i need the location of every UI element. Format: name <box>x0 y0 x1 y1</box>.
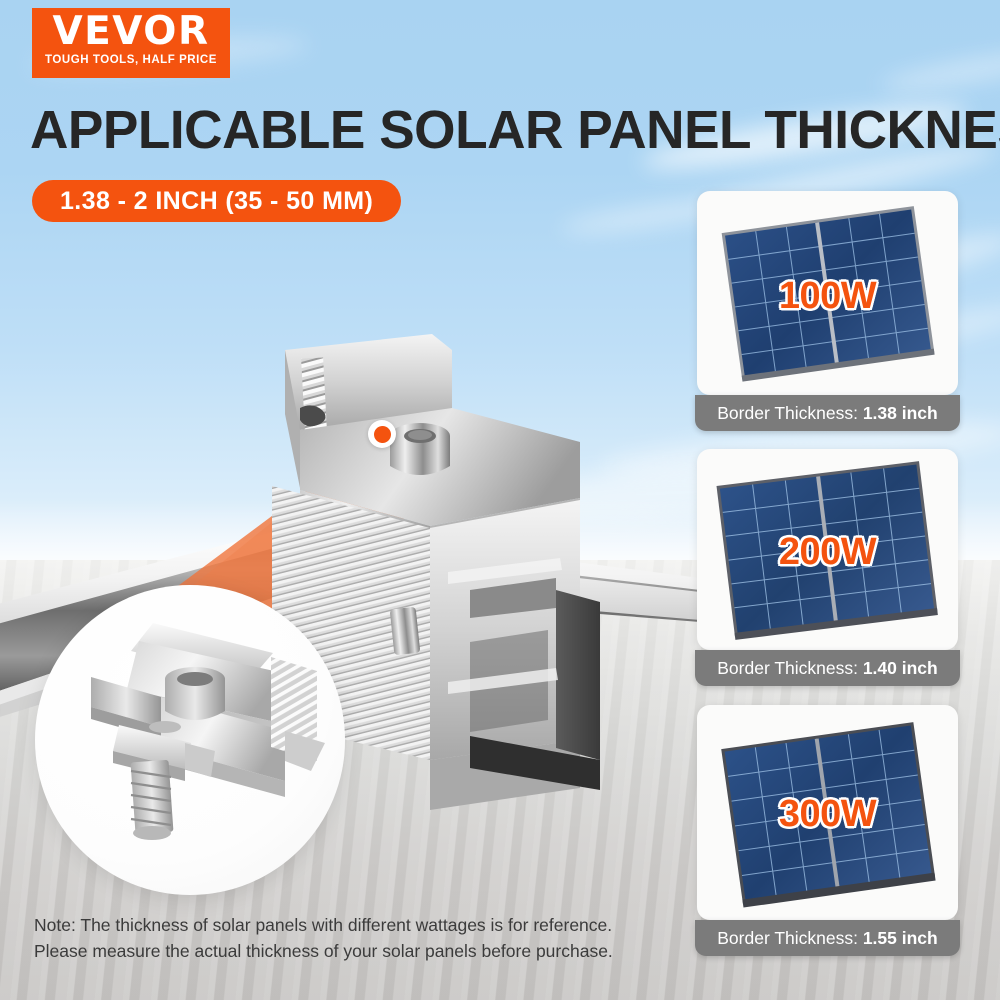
panel-thumbnail: 300W <box>697 705 958 920</box>
spec-card-300w: 300W Border Thickness: 1.55 inch <box>697 705 958 956</box>
poster-canvas: VEVOR TOUGH TOOLS, HALF PRICE APPLICABLE… <box>0 0 1000 1000</box>
border-thickness-footer: Border Thickness: 1.38 inch <box>695 395 960 431</box>
vevor-logo: VEVOR TOUGH TOOLS, HALF PRICE <box>32 8 230 78</box>
callout-dot-core <box>374 426 391 443</box>
wattage-label: 300W <box>697 793 958 836</box>
footer-value: 1.55 inch <box>863 928 938 948</box>
footer-label: Border Thickness: <box>717 403 863 423</box>
disclaimer-note: Note: The thickness of solar panels with… <box>34 912 674 964</box>
magnified-clamp-detail <box>35 585 345 895</box>
bolt-thread <box>131 760 174 840</box>
note-line-2: Please measure the actual thickness of y… <box>34 938 674 964</box>
note-line-1: Note: The thickness of solar panels with… <box>34 912 674 938</box>
page-title: APPLICABLE SOLAR PANEL THICKNESS <box>30 100 917 160</box>
wattage-label: 200W <box>697 531 958 574</box>
border-thickness-footer: Border Thickness: 1.55 inch <box>695 920 960 956</box>
footer-label: Border Thickness: <box>717 928 863 948</box>
wattage-label: 100W <box>697 275 958 318</box>
footer-value: 1.38 inch <box>863 403 938 423</box>
brand-tagline: TOUGH TOOLS, HALF PRICE <box>32 54 230 67</box>
spec-card-100w: 100W Border Thickness: 1.38 inch <box>697 191 958 431</box>
callout-dot <box>368 420 396 448</box>
panel-thumbnail: 100W <box>697 191 958 395</box>
knurled-nut <box>390 423 450 475</box>
panel-thumbnail: 200W <box>697 449 958 650</box>
border-thickness-footer: Border Thickness: 1.40 inch <box>695 650 960 686</box>
footer-label: Border Thickness: <box>717 658 863 678</box>
brand-name: VEVOR <box>32 12 230 52</box>
footer-value: 1.40 inch <box>863 658 938 678</box>
thickness-range-badge: 1.38 - 2 INCH (35 - 50 MM) <box>32 180 401 222</box>
spec-card-200w: 200W Border Thickness: 1.40 inch <box>697 449 958 686</box>
